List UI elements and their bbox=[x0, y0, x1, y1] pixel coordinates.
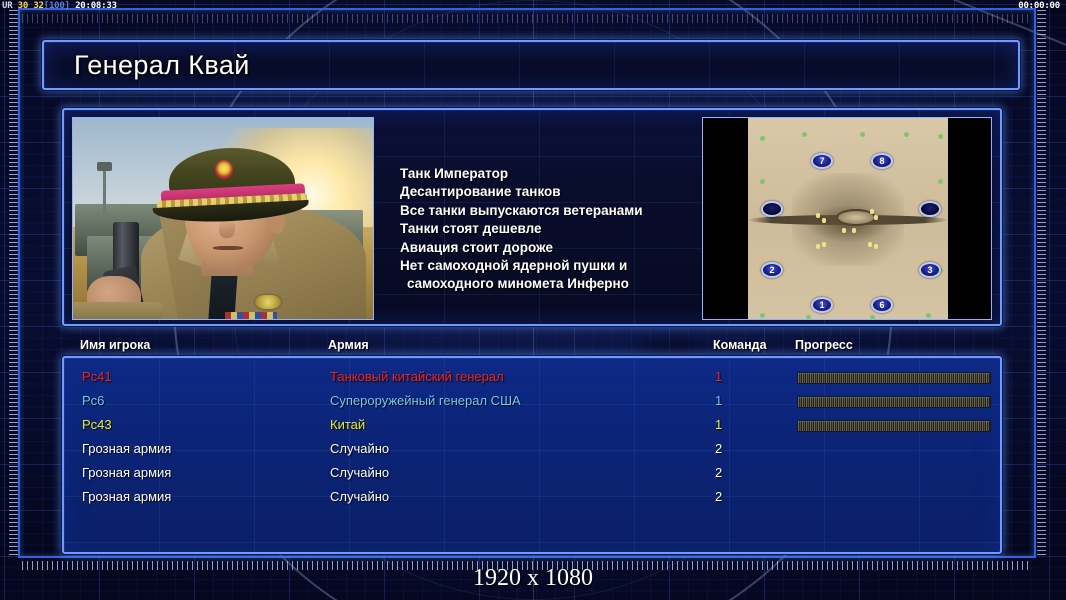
general-bonus-line: Все танки выпускаются ветеранами bbox=[400, 202, 702, 220]
player-army: Случайно bbox=[330, 465, 389, 480]
player-progress-bar bbox=[797, 420, 991, 432]
table-row[interactable]: Грозная армияСлучайно2 bbox=[64, 438, 1000, 462]
player-progress-bar bbox=[797, 372, 991, 384]
portrait-medal-ribbon bbox=[225, 312, 277, 319]
column-header-name: Имя игрока bbox=[80, 338, 150, 352]
players-panel: Pc41Танковый китайский генерал1Pc6Суперо… bbox=[62, 356, 1002, 554]
player-army: Танковый китайский генерал bbox=[330, 369, 504, 384]
portrait-mouth bbox=[213, 246, 243, 250]
map-start-position-marker[interactable]: 2 bbox=[761, 262, 783, 278]
player-name: Pc43 bbox=[82, 417, 112, 432]
ruler-top bbox=[22, 14, 1032, 23]
perf-label: UR bbox=[2, 1, 12, 11]
players-table-header: Имя игрока Армия Команда Прогресс bbox=[62, 338, 1002, 356]
player-army: Случайно bbox=[330, 489, 389, 504]
map-start-position-marker[interactable] bbox=[919, 201, 941, 217]
column-header-progress: Прогресс bbox=[795, 338, 853, 352]
perf-timestamp: 20:08:33 bbox=[75, 1, 117, 11]
player-name: Pc41 bbox=[82, 369, 112, 384]
table-row[interactable]: Грозная армияСлучайно2 bbox=[64, 486, 1000, 510]
general-bonus-line: Танки стоят дешевле bbox=[400, 220, 702, 238]
player-team: 1 bbox=[715, 417, 722, 432]
map-start-position-marker[interactable]: 3 bbox=[919, 262, 941, 278]
perf-bracket: [100] bbox=[44, 1, 70, 11]
map-supply-marker bbox=[760, 313, 765, 318]
player-army: Китай bbox=[330, 417, 365, 432]
player-army: Супероружейный генерал США bbox=[330, 393, 521, 408]
general-bonus-line: Десантирование танков bbox=[400, 183, 702, 201]
player-name: Грозная армия bbox=[82, 465, 171, 480]
game-lobby-screen: UR 30 32[100] 20:08:33 00:00:00 Генерал … bbox=[0, 0, 1066, 600]
player-name: Грозная армия bbox=[82, 441, 171, 456]
perf-value-2: 32 bbox=[33, 1, 43, 11]
game-clock: 00:00:00 bbox=[1018, 1, 1060, 11]
ruler-left bbox=[9, 10, 18, 558]
map-start-position-marker[interactable]: 7 bbox=[811, 153, 833, 169]
map-oil-marker bbox=[816, 244, 820, 249]
player-team: 1 bbox=[715, 369, 722, 384]
portrait-wing-badge bbox=[255, 295, 281, 309]
player-team: 2 bbox=[715, 465, 722, 480]
player-team: 2 bbox=[715, 441, 722, 456]
general-bonus-line: Нет самоходной ядерной пушки и bbox=[400, 257, 702, 275]
player-name: Грозная армия bbox=[82, 489, 171, 504]
map-supply-marker bbox=[802, 132, 807, 137]
map-supply-marker bbox=[926, 313, 931, 318]
player-team: 2 bbox=[715, 489, 722, 504]
map-oil-marker bbox=[842, 228, 846, 233]
player-team: 1 bbox=[715, 393, 722, 408]
resolution-label: 1920 x 1080 bbox=[0, 565, 1066, 592]
page-title: Генерал Квай bbox=[74, 50, 1018, 81]
title-panel: Генерал Квай bbox=[42, 40, 1020, 90]
status-bar: UR 30 32[100] 20:08:33 00:00:00 bbox=[0, 0, 1066, 13]
portrait-cap-emblem-icon bbox=[215, 160, 233, 179]
map-preview-image: 782316 bbox=[748, 118, 948, 320]
general-portrait bbox=[72, 117, 374, 320]
general-bonus-line: Танк Император bbox=[400, 165, 702, 183]
player-name: Pc6 bbox=[82, 393, 104, 408]
map-start-position-marker[interactable]: 6 bbox=[871, 297, 893, 313]
column-header-team: Команда bbox=[713, 338, 767, 352]
map-supply-marker bbox=[870, 315, 875, 320]
portrait-pole-top bbox=[97, 162, 112, 171]
map-supply-marker bbox=[760, 136, 765, 141]
table-row[interactable]: Pc41Танковый китайский генерал1 bbox=[64, 366, 1000, 390]
map-supply-marker bbox=[938, 179, 943, 184]
column-header-army: Армия bbox=[328, 338, 369, 352]
map-supply-marker bbox=[806, 315, 811, 320]
players-table-body: Pc41Танковый китайский генерал1Pc6Суперо… bbox=[64, 358, 1000, 510]
map-start-position-marker[interactable]: 1 bbox=[811, 297, 833, 313]
general-bonus-line: самоходного миномета Инферно bbox=[400, 275, 702, 293]
table-row[interactable]: Pc6Супероружейный генерал США1 bbox=[64, 390, 1000, 414]
map-start-position-marker[interactable] bbox=[761, 201, 783, 217]
map-start-position-marker[interactable]: 8 bbox=[871, 153, 893, 169]
map-supply-marker bbox=[860, 132, 865, 137]
portrait-pole bbox=[103, 166, 106, 214]
general-bonus-line: Авиация стоит дороже bbox=[400, 239, 702, 257]
table-row[interactable]: Грозная армияСлучайно2 bbox=[64, 462, 1000, 486]
map-oil-marker bbox=[868, 242, 872, 247]
general-info-panel: Танк ИмператорДесантирование танковВсе т… bbox=[62, 108, 1002, 326]
portrait-sleeve bbox=[72, 302, 163, 320]
map-supply-marker bbox=[938, 134, 943, 139]
perf-value-1: 30 bbox=[18, 1, 28, 11]
map-supply-marker bbox=[904, 132, 909, 137]
performance-readout: UR 30 32[100] 20:08:33 bbox=[2, 1, 117, 11]
player-army: Случайно bbox=[330, 441, 389, 456]
player-progress-bar bbox=[797, 396, 991, 408]
map-oil-marker bbox=[822, 242, 826, 247]
table-row[interactable]: Pc43Китай1 bbox=[64, 414, 1000, 438]
general-bonus-list: Танк ИмператорДесантирование танковВсе т… bbox=[374, 117, 702, 317]
map-supply-marker bbox=[760, 179, 765, 184]
ruler-right bbox=[1037, 10, 1046, 558]
map-preview[interactable]: 782316 bbox=[702, 117, 992, 320]
map-oil-marker bbox=[822, 218, 826, 223]
map-oil-marker bbox=[852, 228, 856, 233]
map-oil-marker bbox=[874, 244, 878, 249]
